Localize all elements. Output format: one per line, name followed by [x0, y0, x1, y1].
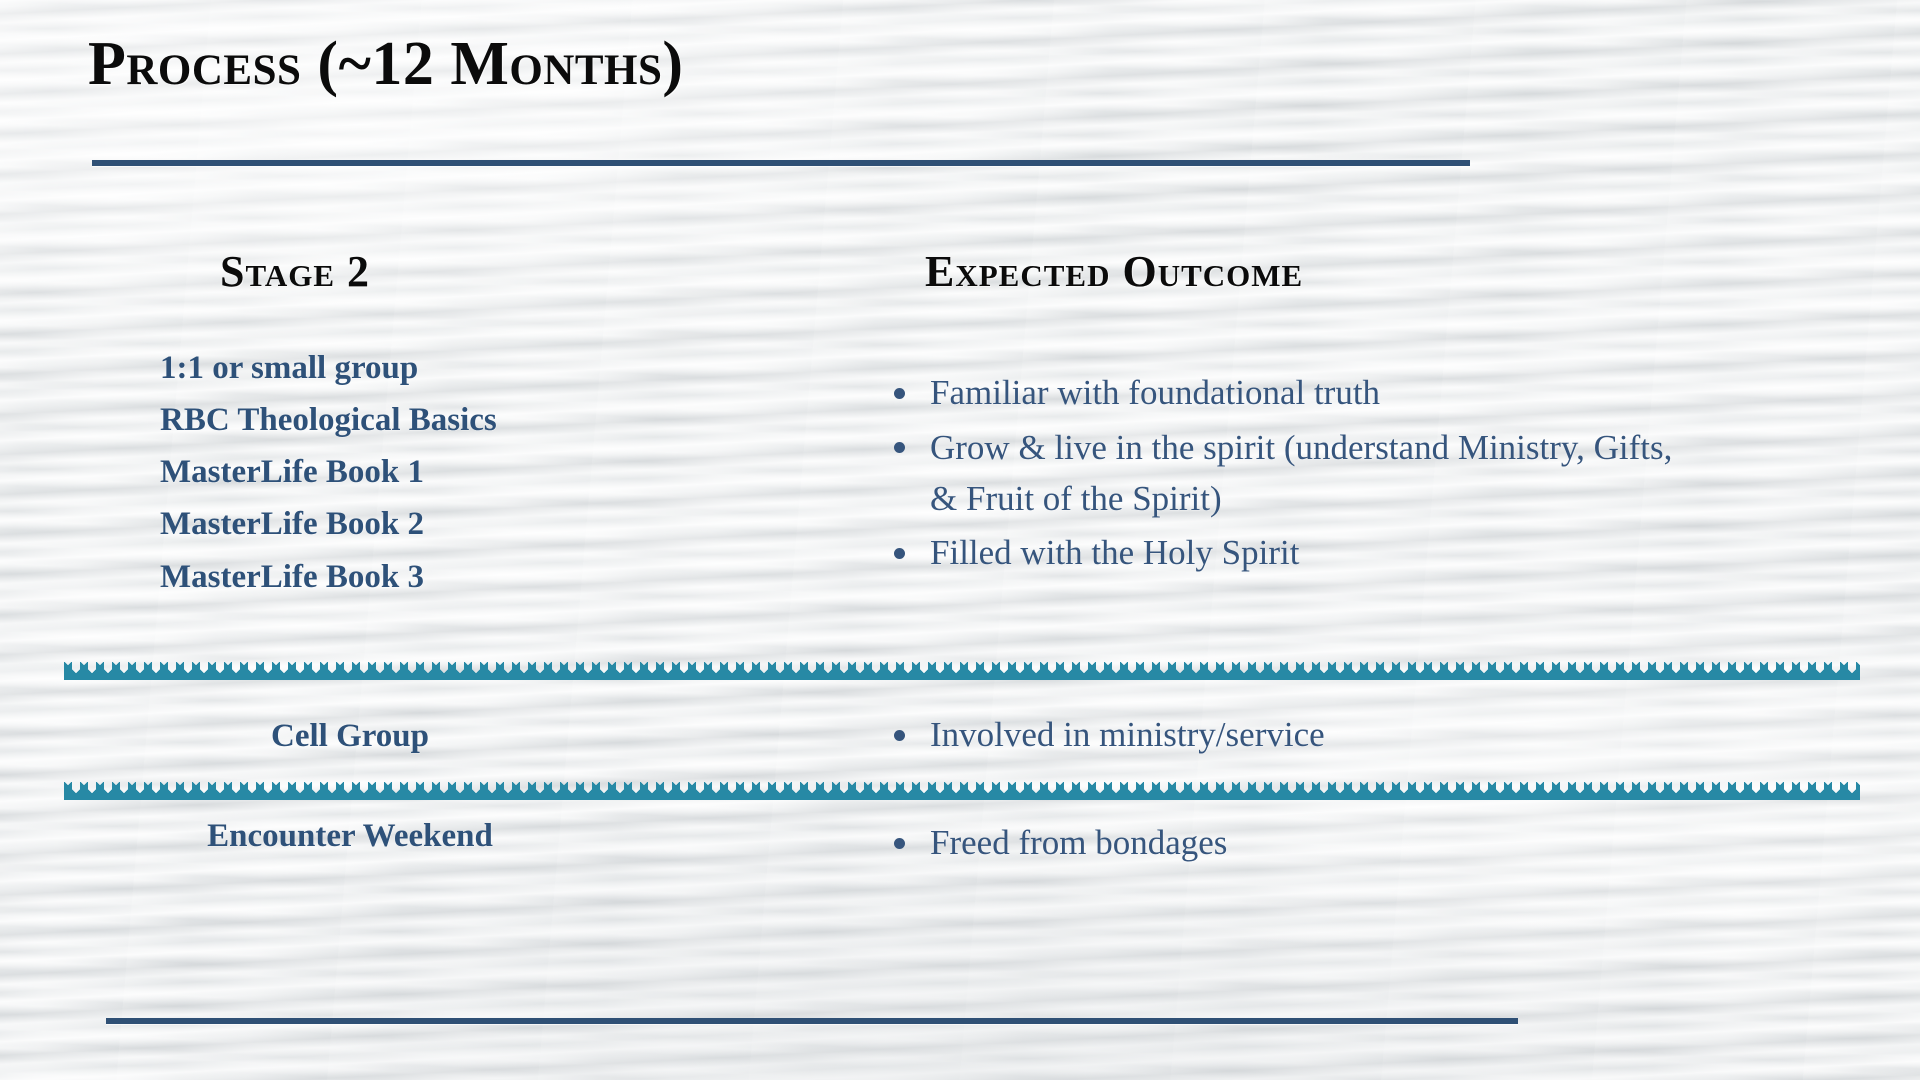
bullet-icon — [894, 548, 905, 559]
column-header-expected-outcome: Expected Outcome — [925, 246, 1303, 297]
bullet-icon — [894, 442, 905, 453]
sawtooth-baseline — [64, 677, 1860, 680]
list-item: Involved in ministry/service — [888, 710, 1708, 761]
sawtooth-divider-2 — [64, 782, 1860, 800]
sawtooth-divider-1 — [64, 662, 1860, 680]
list-item-label: Filled with the Holy Spirit — [930, 533, 1299, 572]
list-item: RBC Theological Basics — [160, 394, 720, 446]
list-item: Familiar with foundational truth — [888, 368, 1708, 419]
outcome-list-band-1: Familiar with foundational truth Grow & … — [888, 368, 1708, 583]
stage-label-cell-group: Cell Group — [140, 712, 560, 762]
slide-content: Process (~12 Months) Stage 2 Expected Ou… — [0, 0, 1920, 1080]
list-item-label: Freed from bondages — [930, 823, 1227, 862]
list-item: MasterLife Book 1 — [160, 446, 720, 498]
list-item: 1:1 or small group — [160, 342, 720, 394]
sawtooth-baseline — [64, 797, 1860, 800]
stage-label-encounter-weekend: Encounter Weekend — [140, 812, 560, 862]
list-item-label: Grow & live in the spirit (understand Mi… — [930, 428, 1672, 518]
slide-canvas: Process (~12 Months) Stage 2 Expected Ou… — [0, 0, 1920, 1080]
list-item: Freed from bondages — [888, 818, 1708, 869]
list-item: Grow & live in the spirit (understand Mi… — [888, 423, 1708, 525]
sawtooth-teeth-icon — [64, 782, 1860, 797]
bottom-divider-rule — [106, 1018, 1518, 1024]
bullet-icon — [894, 388, 905, 399]
stage-item-list: 1:1 or small group RBC Theological Basic… — [160, 342, 720, 603]
bullet-icon — [894, 730, 905, 741]
page-title: Process (~12 Months) — [88, 32, 684, 97]
list-item: MasterLife Book 3 — [160, 551, 720, 603]
list-item: Filled with the Holy Spirit — [888, 528, 1708, 579]
title-divider-rule — [92, 160, 1470, 166]
list-item-label: Familiar with foundational truth — [930, 373, 1380, 412]
bullet-icon — [894, 838, 905, 849]
column-header-stage: Stage 2 — [220, 246, 370, 297]
outcome-list-band-3: Freed from bondages — [888, 818, 1708, 873]
list-item: MasterLife Book 2 — [160, 498, 720, 550]
outcome-list-band-2: Involved in ministry/service — [888, 710, 1708, 765]
sawtooth-teeth-icon — [64, 662, 1860, 677]
list-item-label: Involved in ministry/service — [930, 715, 1325, 754]
